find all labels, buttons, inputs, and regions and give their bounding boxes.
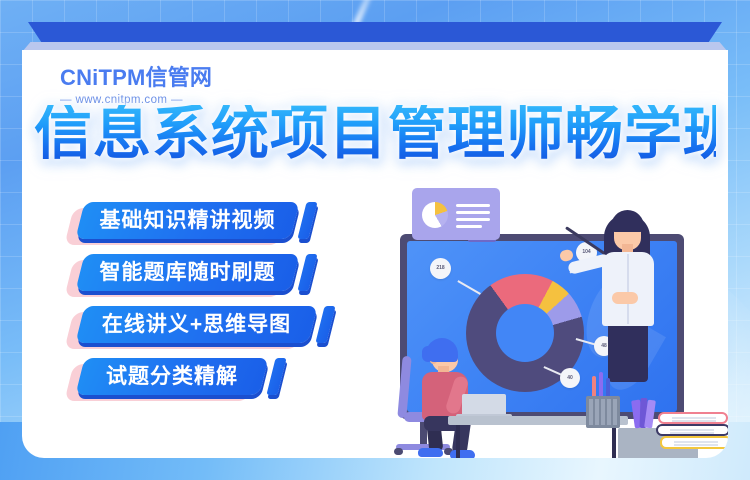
teacher-right-hand (612, 292, 638, 304)
student-shoe (450, 450, 475, 458)
donut-callout-value: 40 (560, 368, 580, 388)
feature-tag-label: 智能题库随时刷题 (80, 254, 295, 291)
student-hair (426, 338, 458, 362)
card-top-bar (28, 22, 722, 43)
feature-tag-label: 在线讲义+思维导图 (80, 306, 313, 343)
student-back-shoe (418, 448, 443, 457)
page-title-wrapper: 信息系统项目管理师畅学班 信息系统项目管理师畅学班 (22, 50, 728, 180)
feature-tag-label: 试题分类精解 (80, 358, 264, 395)
pie-chart-icon (422, 202, 448, 228)
page-title: 信息系统项目管理师畅学班 (34, 105, 716, 163)
feature-tag-tip (315, 306, 335, 343)
feature-tag-body[interactable]: 在线讲义+思维导图 (75, 306, 317, 343)
feature-tag-tip (266, 358, 286, 395)
feature-tag-label: 基础知识精讲视频 (80, 202, 295, 239)
donut-callout-bubble: 218 (430, 258, 451, 279)
feature-tag-tip (297, 254, 317, 291)
course-illustration: 218 104 48 40 (390, 180, 728, 458)
chair-wheel (394, 448, 403, 455)
donut-callout-bubble: 40 (560, 368, 580, 388)
feature-tag-body[interactable]: 基础知识精讲视频 (75, 202, 299, 239)
content-card: CNiTPM信管网 — www.cnitpm.com — 信息系统项目管理师畅学… (22, 50, 728, 458)
donut-chart-hole (496, 304, 554, 362)
teacher-skirt (608, 322, 648, 382)
donut-callout-value: 218 (430, 258, 451, 279)
slide-text-line (456, 211, 490, 214)
feature-tag-body[interactable]: 智能题库随时刷题 (75, 254, 299, 291)
slide-text-line (456, 204, 490, 207)
teacher-hair-top (611, 210, 644, 232)
feature-tag-tip (297, 202, 317, 239)
book-stack-item (660, 436, 728, 449)
book-stack-item (658, 412, 728, 424)
desk-leg (456, 425, 460, 458)
book-stack-item (656, 424, 728, 436)
slide-text-line (456, 225, 482, 228)
teacher-shirt-placket (627, 254, 629, 324)
slide-text-line (456, 218, 490, 221)
feature-tag-body[interactable]: 试题分类精解 (75, 358, 268, 395)
laptop-screen (462, 394, 506, 416)
desk-leg (612, 425, 616, 458)
teacher-right-arm (638, 276, 652, 320)
calculator-keypad (589, 399, 617, 425)
